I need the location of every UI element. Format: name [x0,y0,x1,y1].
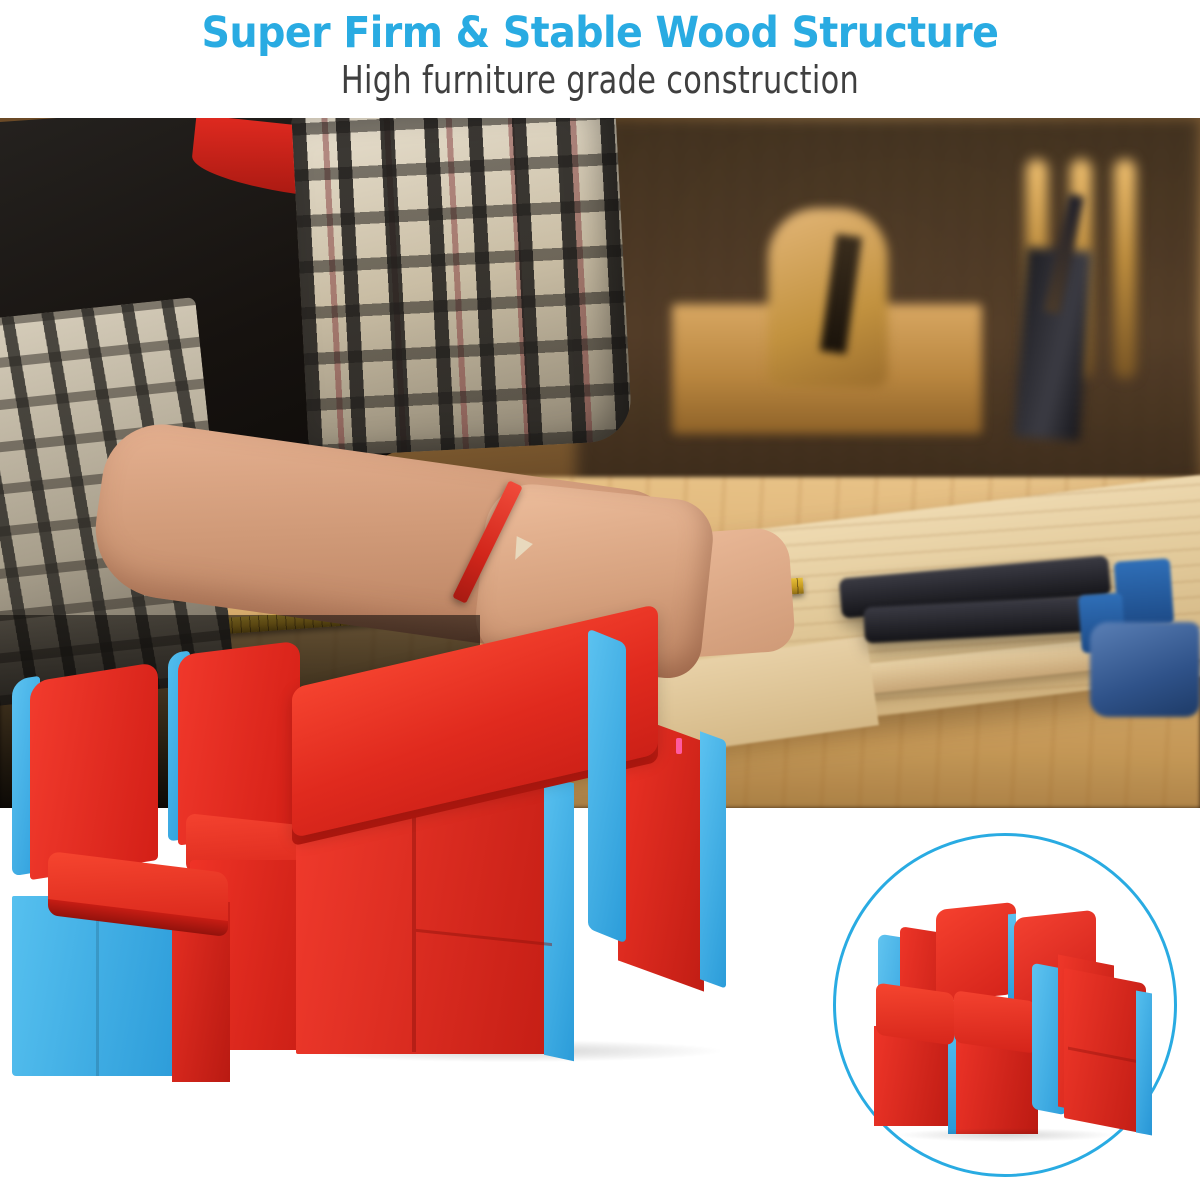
sofa-floor-shadow [896,1128,1116,1142]
table-left-leg-blue-trim [544,777,574,1061]
sofa-left-seat [876,983,954,1046]
product-marketing-image: Super Firm & Stable Wood Structure High … [0,0,1200,1200]
plaid-shirt-sleeve [291,118,633,457]
page-title: Super Firm & Stable Wood Structure [48,8,1152,58]
header-banner: Super Firm & Stable Wood Structure High … [0,0,1200,118]
kids-table-and-chair-set [0,610,860,1200]
zipper-pull-icon [676,738,682,754]
page-subtitle: High furniture grade construction [120,58,1080,102]
chair-front-backrest [30,662,158,880]
chair-front-seam [96,896,99,1076]
table-right-leg-blue-trim [700,731,726,988]
sofa-right-blue-edge [1136,990,1152,1135]
table-top-blue-trim [588,628,626,943]
table-leg-seam-vertical [412,790,416,1052]
tape-measure-icon [1090,622,1200,717]
converted-sofa [836,836,1174,1174]
sofa-left-backrest [936,902,1016,1002]
sofa-mode-inset [833,833,1177,1177]
